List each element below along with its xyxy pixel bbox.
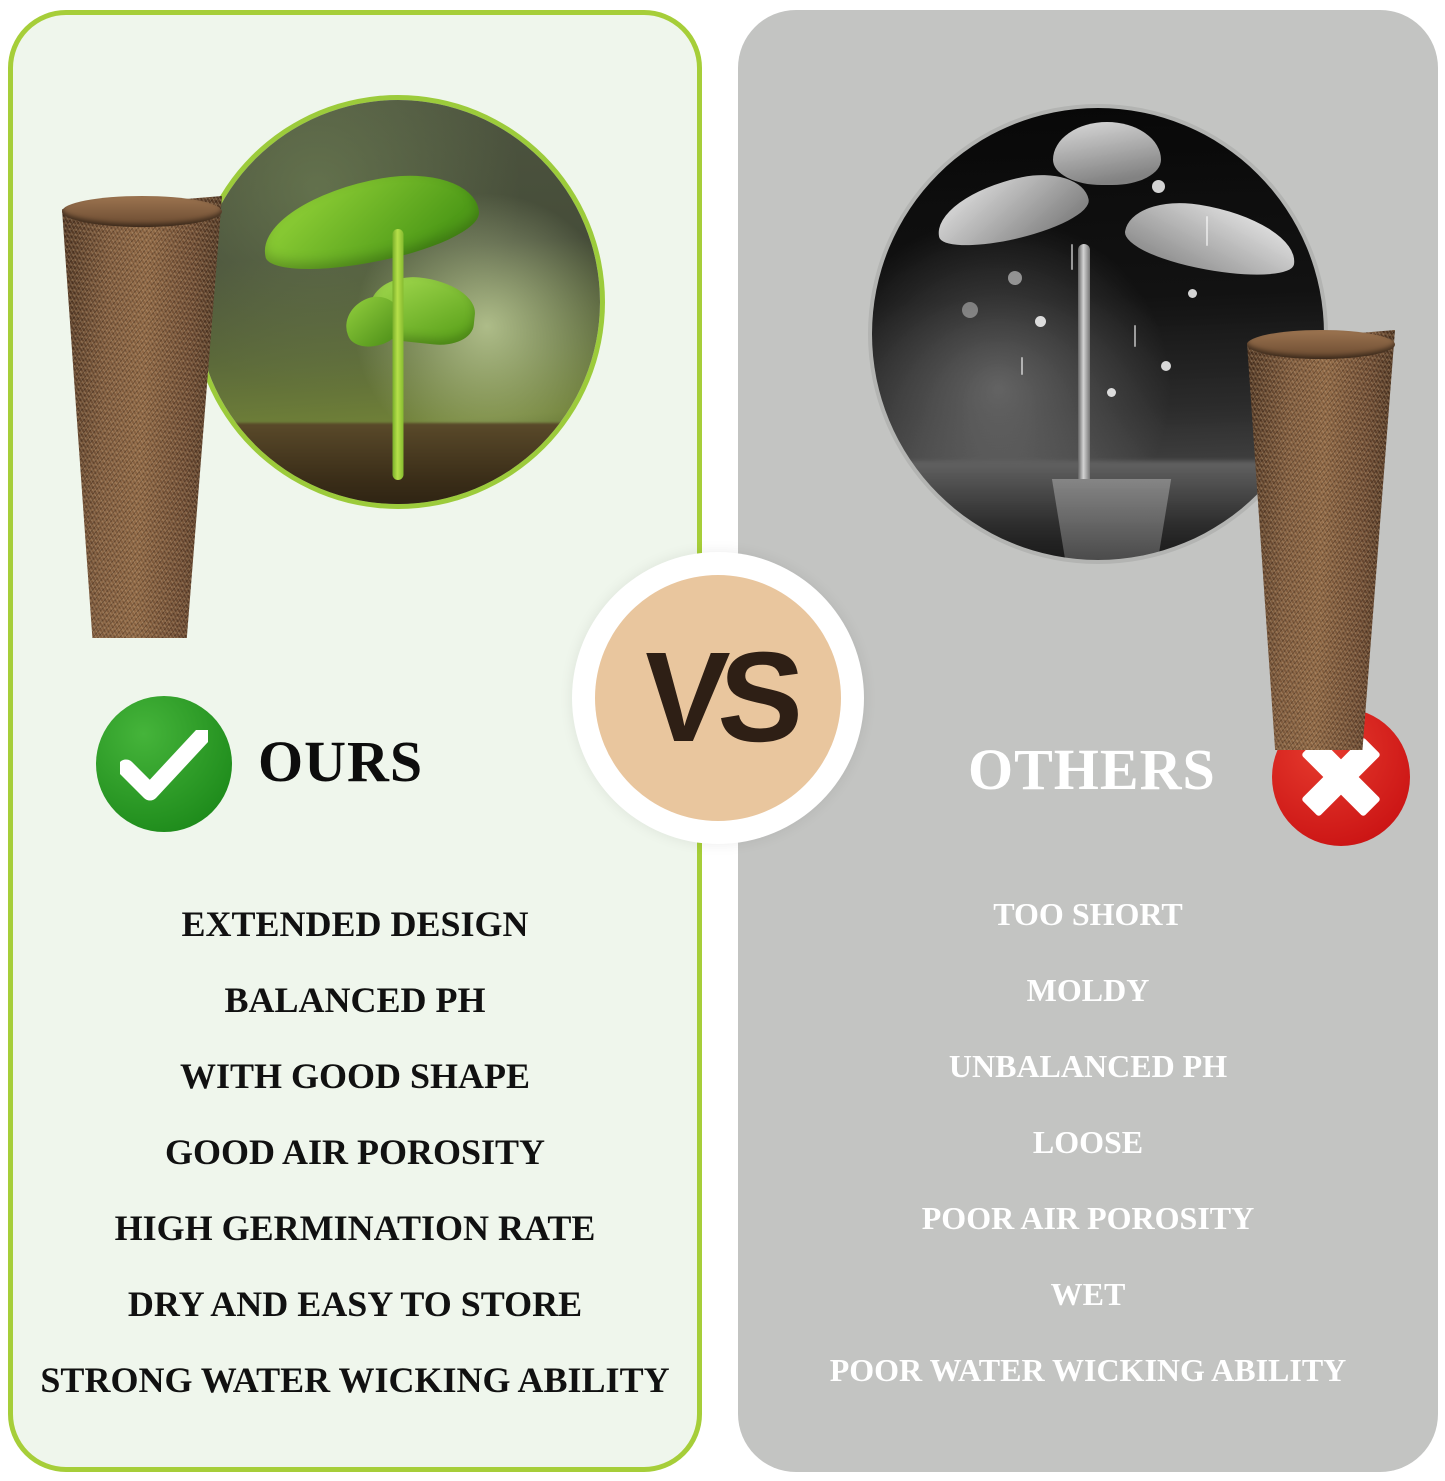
water-droplet-icon (1008, 271, 1022, 285)
water-droplet-icon (1035, 316, 1046, 327)
ours-product-photo (196, 100, 600, 504)
ours-label: OURS (258, 728, 423, 795)
stem-shape (393, 229, 404, 479)
feature-item: UNBALANCED PH (949, 1028, 1227, 1104)
plug-body (1247, 330, 1395, 750)
feature-item: STRONG WATER WICKING ABILITY (40, 1342, 669, 1418)
check-circle-icon (96, 696, 232, 832)
check-mark-icon (120, 730, 208, 802)
feature-item: POOR AIR POROSITY (922, 1180, 1254, 1256)
others-coir-plug (1247, 330, 1395, 750)
plug-body (62, 196, 222, 638)
plug-rim (62, 196, 222, 227)
feature-item: MOLDY (1027, 952, 1150, 1028)
feature-item: EXTENDED DESIGN (181, 886, 528, 962)
rain-streak (1134, 325, 1136, 347)
feature-item: LOOSE (1033, 1104, 1143, 1180)
pot-shape (1044, 479, 1180, 560)
rain-streak (1021, 357, 1023, 375)
ours-feature-list: EXTENDED DESIGN BALANCED PH WITH GOOD SH… (10, 886, 700, 1418)
feature-item: TOO SHORT (993, 876, 1182, 952)
versus-label: VS (639, 634, 796, 762)
ours-coir-plug (62, 196, 222, 638)
comparison-infographic: OURS EXTENDED DESIGN BALANCED PH WITH GO… (0, 0, 1445, 1481)
feature-item: BALANCED PH (224, 962, 485, 1038)
feature-item: HIGH GERMINATION RATE (115, 1190, 596, 1266)
feature-item: WITH GOOD SHAPE (180, 1038, 530, 1114)
versus-badge: VS (572, 552, 864, 844)
feature-item: GOOD AIR POROSITY (165, 1114, 545, 1190)
rain-streak (1071, 244, 1073, 270)
stem-shape (1078, 244, 1090, 515)
feature-item: POOR WATER WICKING ABILITY (830, 1332, 1347, 1408)
feature-item: DRY AND EASY TO STORE (128, 1266, 582, 1342)
others-label: OTHERS (968, 736, 1216, 803)
others-feature-list: TOO SHORT MOLDY UNBALANCED PH LOOSE POOR… (740, 876, 1436, 1408)
feature-item: WET (1051, 1256, 1126, 1332)
versus-badge-inner: VS (595, 575, 841, 821)
